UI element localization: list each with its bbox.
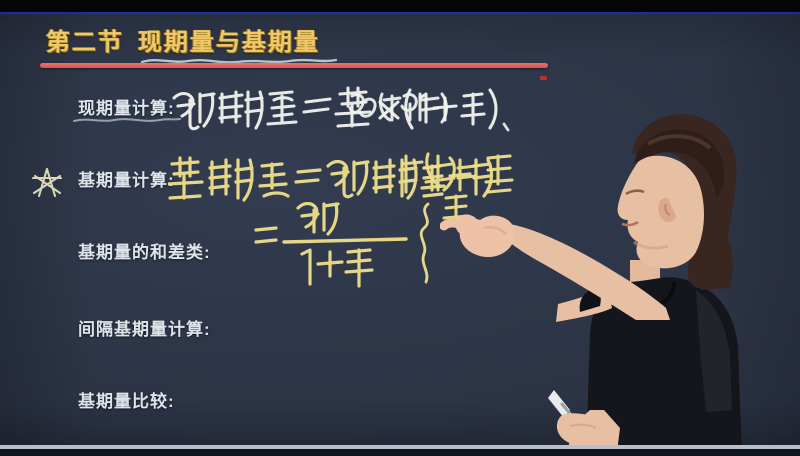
handwriting-note-suffix xyxy=(348,86,458,132)
bullet-interval-base-period-calc: 间隔基期量计算: xyxy=(78,315,211,340)
instructor-pointing-arm xyxy=(440,190,670,320)
handwriting-formula-fraction xyxy=(252,202,472,292)
recording-indicator-dot xyxy=(540,76,547,80)
bullet-base-period-compare: 基期量比较: xyxy=(78,387,175,412)
instructor-pen xyxy=(548,386,668,445)
bullet-base-period-sum-diff: 基期量的和差类: xyxy=(78,238,211,263)
slide-title: 第二节现期量与基期量 xyxy=(46,22,320,57)
handwriting-formula-current-period xyxy=(168,82,528,138)
letterbox-top-bar xyxy=(0,0,800,12)
title-divider-rule xyxy=(40,63,548,68)
star-marker-icon xyxy=(30,166,64,200)
title-section-label: 第二节 xyxy=(46,29,124,56)
title-topic: 现期量与基期量 xyxy=(138,29,320,56)
letterbox-bottom-bar xyxy=(0,449,800,456)
bullet-wavy-underline-icon xyxy=(72,116,182,124)
video-frame: 第二节现期量与基期量 现期量计算: 基期量计算: 基期量的和差类: 间隔基期量计… xyxy=(0,0,800,456)
bullet-base-period-calc: 基期量计算: xyxy=(78,166,175,191)
top-accent-line xyxy=(0,12,800,14)
lecture-slide: 第二节现期量与基期量 现期量计算: 基期量计算: 基期量的和差类: 间隔基期量计… xyxy=(0,14,800,445)
